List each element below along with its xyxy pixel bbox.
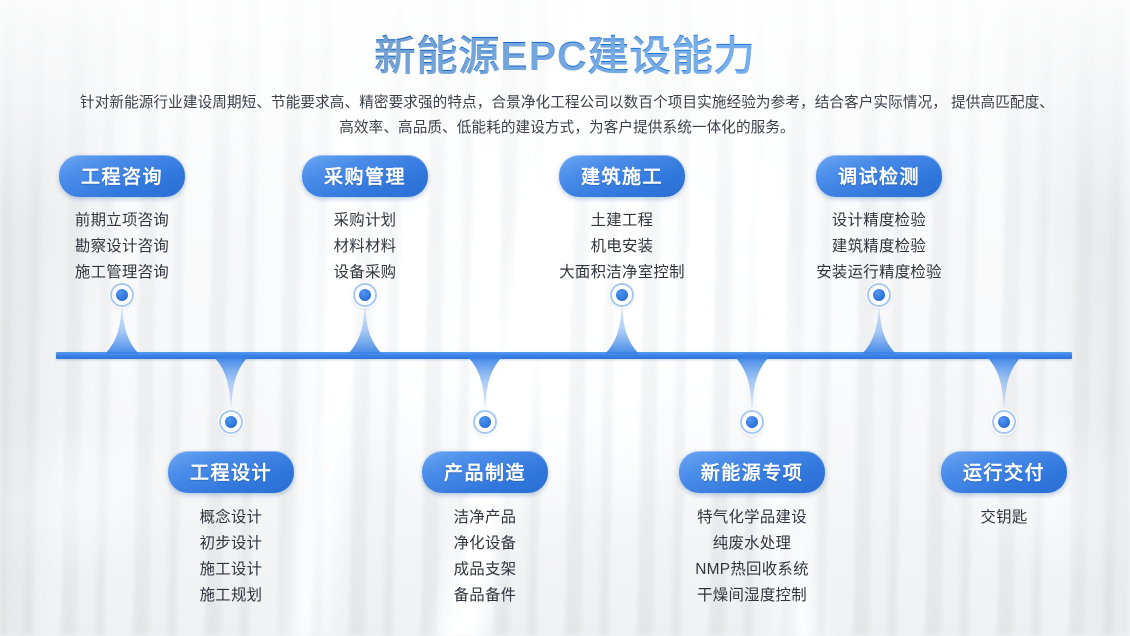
phase-group-procurement-management: 采购管理 采购计划 材料材料 设备采购 bbox=[245, 155, 485, 286]
phase-group-building-construction: 建筑施工 土建工程 机电安装 大面积洁净室控制 bbox=[502, 155, 742, 286]
phase-group-engineering-design: 工程设计 概念设计 初步设计 施工设计 施工规划 bbox=[111, 451, 351, 609]
phase-item: 干燥间湿度控制 bbox=[632, 583, 872, 609]
page-subtitle: 针对新能源行业建设周期短、节能要求高、精密要求强的特点，合景净化工程公司以数百个… bbox=[78, 91, 1056, 141]
subtitle-line-1: 针对新能源行业建设周期短、节能要求高、精密要求强的特点，合景净化工程公司以数百个… bbox=[80, 95, 947, 111]
phase-group-operation-delivery: 运行交付 交钥匙 bbox=[884, 451, 1124, 531]
content-layer: 新能源EPC建设能力 针对新能源行业建设周期短、节能要求高、精密要求强的特点，合… bbox=[0, 0, 1130, 636]
phase-item: 前期立项咨询 bbox=[2, 208, 242, 234]
connector-top-2 bbox=[348, 300, 382, 354]
timeline-node-bottom-4[interactable] bbox=[992, 410, 1016, 434]
connector-top-4 bbox=[862, 300, 896, 354]
phase-items-8: 交钥匙 bbox=[884, 505, 1124, 531]
timeline-node-top-2[interactable] bbox=[353, 283, 377, 307]
connector-bottom-3 bbox=[735, 357, 769, 413]
phase-item: 纯废水处理 bbox=[632, 531, 872, 557]
phase-items-7: 特气化学品建设 纯废水处理 NMP热回收系统 干燥间湿度控制 bbox=[632, 505, 872, 609]
phase-item: NMP热回收系统 bbox=[632, 557, 872, 583]
phase-group-commissioning-testing: 调试检测 设计精度检验 建筑精度检验 安装运行精度检验 bbox=[759, 155, 999, 286]
phase-item: 备品备件 bbox=[365, 583, 605, 609]
connector-bottom-1 bbox=[214, 357, 248, 413]
phase-item: 机电安装 bbox=[502, 234, 742, 260]
phase-pill-7[interactable]: 新能源专项 bbox=[679, 451, 826, 493]
phase-pill-8[interactable]: 运行交付 bbox=[941, 451, 1067, 493]
phase-items-3: 土建工程 机电安装 大面积洁净室控制 bbox=[502, 208, 742, 286]
phase-items-2: 采购计划 材料材料 设备采购 bbox=[245, 208, 485, 286]
phase-item: 大面积洁净室控制 bbox=[502, 260, 742, 286]
infographic-stage: 新能源EPC建设能力 针对新能源行业建设周期短、节能要求高、精密要求强的特点，合… bbox=[0, 0, 1130, 636]
timeline-bar bbox=[56, 352, 1072, 359]
timeline-node-bottom-2[interactable] bbox=[473, 410, 497, 434]
phase-item: 洁净产品 bbox=[365, 505, 605, 531]
phase-item: 交钥匙 bbox=[884, 505, 1124, 531]
timeline-node-bottom-3[interactable] bbox=[740, 410, 764, 434]
phase-pill-1[interactable]: 工程咨询 bbox=[59, 155, 185, 197]
connector-top-3 bbox=[605, 300, 639, 354]
phase-items-1: 前期立项咨询 勘察设计咨询 施工管理咨询 bbox=[2, 208, 242, 286]
phase-pill-5[interactable]: 工程设计 bbox=[168, 451, 294, 493]
phase-group-product-manufacturing: 产品制造 洁净产品 净化设备 成品支架 备品备件 bbox=[365, 451, 605, 609]
phase-item: 初步设计 bbox=[111, 531, 351, 557]
phase-items-5: 概念设计 初步设计 施工设计 施工规划 bbox=[111, 505, 351, 609]
phase-item: 施工规划 bbox=[111, 583, 351, 609]
phase-items-4: 设计精度检验 建筑精度检验 安装运行精度检验 bbox=[759, 208, 999, 286]
phase-item: 净化设备 bbox=[365, 531, 605, 557]
phase-item: 设计精度检验 bbox=[759, 208, 999, 234]
timeline-node-top-3[interactable] bbox=[610, 283, 634, 307]
phase-pill-4[interactable]: 调试检测 bbox=[816, 155, 942, 197]
connector-bottom-4 bbox=[987, 357, 1021, 413]
connector-bottom-2 bbox=[468, 357, 502, 413]
phase-group-new-energy-special: 新能源专项 特气化学品建设 纯废水处理 NMP热回收系统 干燥间湿度控制 bbox=[632, 451, 872, 609]
connector-top-1 bbox=[105, 300, 139, 354]
phase-item: 概念设计 bbox=[111, 505, 351, 531]
timeline-node-top-1[interactable] bbox=[110, 283, 134, 307]
phase-item: 采购计划 bbox=[245, 208, 485, 234]
phase-items-6: 洁净产品 净化设备 成品支架 备品备件 bbox=[365, 505, 605, 609]
timeline-node-top-4[interactable] bbox=[867, 283, 891, 307]
phase-item: 土建工程 bbox=[502, 208, 742, 234]
phase-item: 安装运行精度检验 bbox=[759, 260, 999, 286]
phase-pill-2[interactable]: 采购管理 bbox=[302, 155, 428, 197]
phase-pill-6[interactable]: 产品制造 bbox=[422, 451, 548, 493]
page-title: 新能源EPC建设能力 bbox=[0, 33, 1130, 80]
phase-item: 施工设计 bbox=[111, 557, 351, 583]
phase-item: 施工管理咨询 bbox=[2, 260, 242, 286]
phase-group-engineering-consulting: 工程咨询 前期立项咨询 勘察设计咨询 施工管理咨询 bbox=[2, 155, 242, 286]
timeline-node-bottom-1[interactable] bbox=[219, 410, 243, 434]
phase-item: 勘察设计咨询 bbox=[2, 234, 242, 260]
phase-item: 成品支架 bbox=[365, 557, 605, 583]
phase-item: 建筑精度检验 bbox=[759, 234, 999, 260]
phase-item: 设备采购 bbox=[245, 260, 485, 286]
phase-item: 特气化学品建设 bbox=[632, 505, 872, 531]
phase-item: 材料材料 bbox=[245, 234, 485, 260]
phase-pill-3[interactable]: 建筑施工 bbox=[559, 155, 685, 197]
